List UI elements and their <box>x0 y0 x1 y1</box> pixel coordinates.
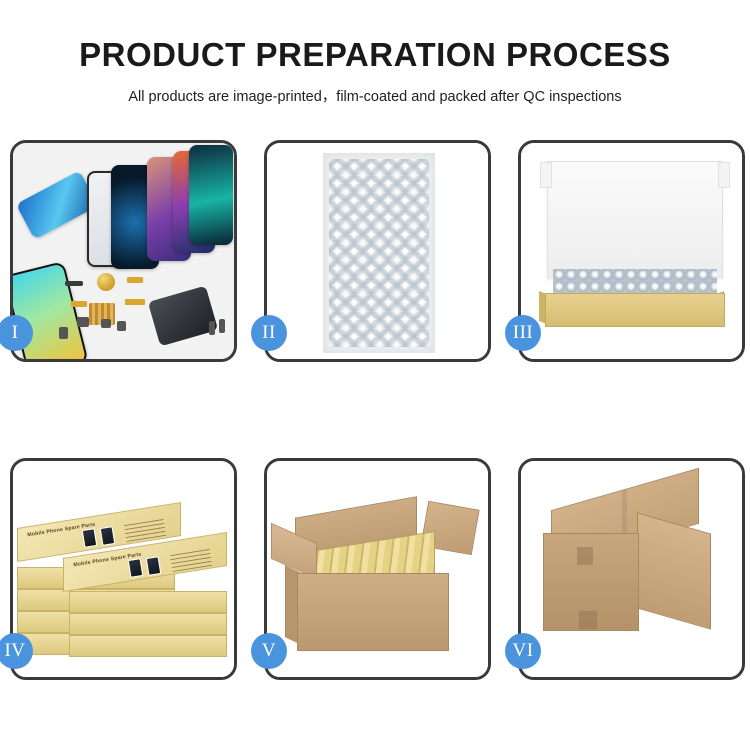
scene-sealed-carton <box>521 461 742 677</box>
step-image-6 <box>521 461 742 677</box>
scene-open-inner-box <box>521 143 742 359</box>
sealed-carton-tape-top <box>577 547 593 565</box>
step-badge-6: VI <box>505 633 541 669</box>
box-label-phone-right-a <box>128 558 144 578</box>
page-title: PRODUCT PREPARATION PROCESS <box>0 36 750 74</box>
scene-phones-and-parts <box>13 143 234 359</box>
step-image-5 <box>267 461 488 677</box>
part-small-b <box>101 319 111 328</box>
step-badge-3: III <box>505 315 541 351</box>
part-bar <box>65 281 83 286</box>
sealed-carton-right-panel <box>637 512 711 629</box>
box-label-phone-left-a <box>82 528 98 548</box>
stacked-box-r2 <box>69 591 227 613</box>
part-gold-coin <box>97 273 115 291</box>
header: PRODUCT PREPARATION PROCESS All products… <box>0 0 750 106</box>
part-small-a <box>77 317 89 327</box>
part-screw-a <box>209 321 215 335</box>
page-subtitle: All products are image-printed，film-coat… <box>0 85 750 106</box>
sealed-carton-tape-bottom <box>579 611 597 629</box>
stacked-box-r4 <box>69 635 227 657</box>
part-small-d <box>59 327 68 339</box>
step-card-6: VI <box>518 458 745 680</box>
step-card-1: I <box>10 140 237 362</box>
steps-grid: I II <box>10 140 745 680</box>
phone-blue-tilted <box>16 170 98 239</box>
part-flex-cable-a <box>127 277 143 283</box>
bubble-wrapped-part <box>323 153 435 353</box>
box-stack: Mobile Phone Spare Parts Mobile Phone Sp… <box>17 483 233 669</box>
step-image-4: Mobile Phone Spare Parts Mobile Phone Sp… <box>13 461 234 677</box>
step-image-3 <box>521 143 742 359</box>
step-card-3: III <box>518 140 745 362</box>
box-label-phone-left-b <box>100 526 116 546</box>
step-badge-2: II <box>251 315 287 351</box>
step-image-1 <box>13 143 234 359</box>
part-flex-cable-b <box>125 299 145 305</box>
phone-teal <box>189 145 233 245</box>
scene-stacked-boxes: Mobile Phone Spare Parts Mobile Phone Sp… <box>13 461 234 677</box>
step-badge-5: V <box>251 633 287 669</box>
inner-box-bubble-fill <box>553 269 717 295</box>
scene-open-carton <box>267 461 488 677</box>
box-label-phone-right-b <box>146 556 162 576</box>
scene-bubble-wrap <box>267 143 488 359</box>
step-card-2: II <box>264 140 491 362</box>
stacked-box-r3 <box>69 613 227 635</box>
step-card-4: Mobile Phone Spare Parts Mobile Phone Sp… <box>10 458 237 680</box>
part-flex-cable-c <box>71 301 87 307</box>
part-screw-b <box>219 319 225 333</box>
carton-front-panel <box>297 573 449 651</box>
bubble-row-back <box>329 159 429 347</box>
phone-back-housing <box>148 286 218 347</box>
part-small-c <box>117 321 126 331</box>
inner-box-front-panel <box>545 293 725 327</box>
step-card-5: V <box>264 458 491 680</box>
inner-box-lid <box>547 161 723 279</box>
product-preparation-infographic: PRODUCT PREPARATION PROCESS All products… <box>0 0 750 750</box>
step-image-2 <box>267 143 488 359</box>
